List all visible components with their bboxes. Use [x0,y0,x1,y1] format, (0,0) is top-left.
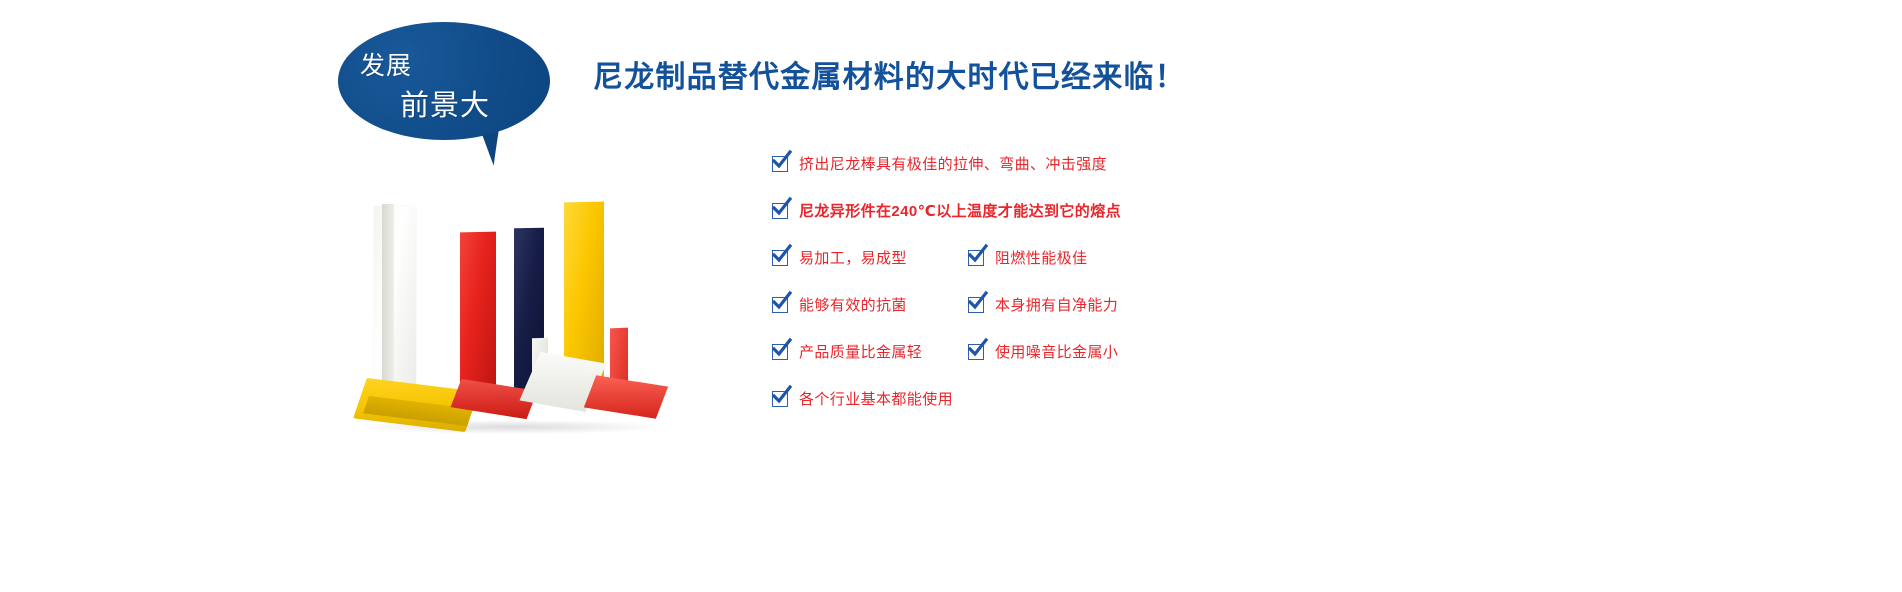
checkbox-checked-icon [772,344,788,360]
speech-bubble-line-2: 前景大 [400,82,490,124]
feature-item: 易加工，易成型 [772,250,907,266]
banner-root: 发展 前景大 尼龙制品替代金属材料的大时代已经来临！ 挤出尼龙棒具有极佳的拉伸、… [0,0,1902,592]
checkbox-checked-icon [772,391,788,407]
feature-item: 挤出尼龙棒具有极佳的拉伸、弯曲、冲击强度 [772,156,1107,172]
product-red-l-base [584,375,668,418]
checkbox-checked-icon [968,344,984,360]
feature-row: 尼龙异形件在240℃以上温度才能达到它的熔点 [772,203,1192,250]
feature-item: 使用噪音比金属小 [968,344,1118,360]
feature-row: 易加工，易成型 阻燃性能极佳 [772,250,1192,297]
feature-label: 能够有效的抗菌 [799,298,907,313]
checkbox-checked-icon [968,250,984,266]
feature-label: 产品质量比金属轻 [799,345,922,360]
checkbox-checked-icon [772,203,788,219]
feature-row: 产品质量比金属轻 使用噪音比金属小 [772,344,1192,391]
speech-bubble-line-1: 发展 [360,46,412,82]
speech-bubble: 发展 前景大 [338,22,568,167]
feature-label: 本身拥有自净能力 [995,298,1118,313]
checkbox-checked-icon [968,297,984,313]
feature-row: 挤出尼龙棒具有极佳的拉伸、弯曲、冲击强度 [772,156,1192,203]
checkbox-checked-icon [772,297,788,313]
feature-item: 各个行业基本都能使用 [772,391,953,407]
feature-item: 本身拥有自净能力 [968,297,1118,313]
feature-label: 易加工，易成型 [799,251,907,266]
feature-label: 使用噪音比金属小 [995,345,1118,360]
feature-label: 挤出尼龙棒具有极佳的拉伸、弯曲、冲击强度 [799,157,1107,172]
feature-item: 产品质量比金属轻 [772,344,922,360]
feature-row: 能够有效的抗菌 本身拥有自净能力 [772,297,1192,344]
product-photo [352,188,702,468]
checkbox-checked-icon [772,250,788,266]
feature-item: 尼龙异形件在240℃以上温度才能达到它的熔点 [772,203,1121,219]
feature-label: 尼龙异形件在240℃以上温度才能达到它的熔点 [799,204,1121,219]
feature-label: 阻燃性能极佳 [995,251,1087,266]
feature-item: 阻燃性能极佳 [968,250,1087,266]
feature-list: 挤出尼龙棒具有极佳的拉伸、弯曲、冲击强度 尼龙异形件在240℃以上温度才能达到它… [772,156,1192,438]
feature-row: 各个行业基本都能使用 [772,391,1192,438]
feature-item: 能够有效的抗菌 [772,297,907,313]
feature-label: 各个行业基本都能使用 [799,392,953,407]
checkbox-checked-icon [772,156,788,172]
page-title: 尼龙制品替代金属材料的大时代已经来临！ [593,52,1186,96]
speech-bubble-text: 发展 前景大 [338,22,550,140]
